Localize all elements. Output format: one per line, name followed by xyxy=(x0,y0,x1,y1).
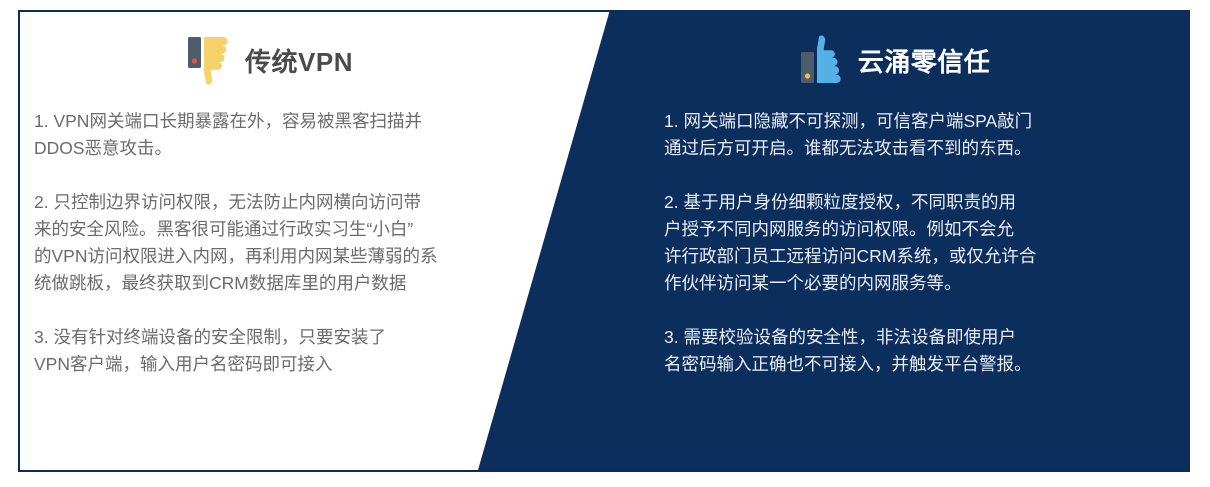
thumbs-down-icon xyxy=(187,35,231,85)
zero-trust-bullet-3: 3. 需要校验设备的安全性，非法设备即使用户 名密码输入正确也不可接入，并触发平… xyxy=(664,324,1094,378)
traditional-vpn-bullet-2: 2. 只控制边界访问权限，无法防止内网横向访问带 来的安全风险。黑客很可能通过行… xyxy=(34,189,494,297)
traditional-vpn-title: 传统VPN xyxy=(245,42,353,79)
zero-trust-header: 云涌零信任 xyxy=(644,12,1184,108)
vpn-vs-zerotrust-comparison-card: 传统VPN 1. VPN网关端口长期暴露在外，容易被黑客扫描并 DDOS恶意攻击… xyxy=(18,10,1190,472)
traditional-vpn-body: 1. VPN网关端口长期暴露在外，容易被黑客扫描并 DDOS恶意攻击。 2. 只… xyxy=(20,108,500,378)
zero-trust-bullet-2: 2. 基于用户身份细颗粒度授权，不同职责的用 户授予不同内网服务的访问权限。例如… xyxy=(664,189,1094,297)
zero-trust-panel: 云涌零信任 1. 网关端口隐藏不可探测，可信客户端SPA敲门 通过后方可开启。谁… xyxy=(644,12,1184,470)
zero-trust-body: 1. 网关端口隐藏不可探测，可信客户端SPA敲门 通过后方可开启。谁都无法攻击看… xyxy=(644,108,1184,378)
zero-trust-bullet-1: 1. 网关端口隐藏不可探测，可信客户端SPA敲门 通过后方可开启。谁都无法攻击看… xyxy=(664,108,1094,162)
thumbs-up-icon xyxy=(800,35,844,85)
traditional-vpn-bullet-1: 1. VPN网关端口长期暴露在外，容易被黑客扫描并 DDOS恶意攻击。 xyxy=(34,108,494,162)
traditional-vpn-header: 传统VPN xyxy=(20,12,500,108)
traditional-vpn-panel: 传统VPN 1. VPN网关端口长期暴露在外，容易被黑客扫描并 DDOS恶意攻击… xyxy=(20,12,500,470)
traditional-vpn-bullet-3: 3. 没有针对终端设备的安全限制，只要安装了 VPN客户端，输入用户名密码即可接… xyxy=(34,324,494,378)
zero-trust-title: 云涌零信任 xyxy=(858,42,991,79)
